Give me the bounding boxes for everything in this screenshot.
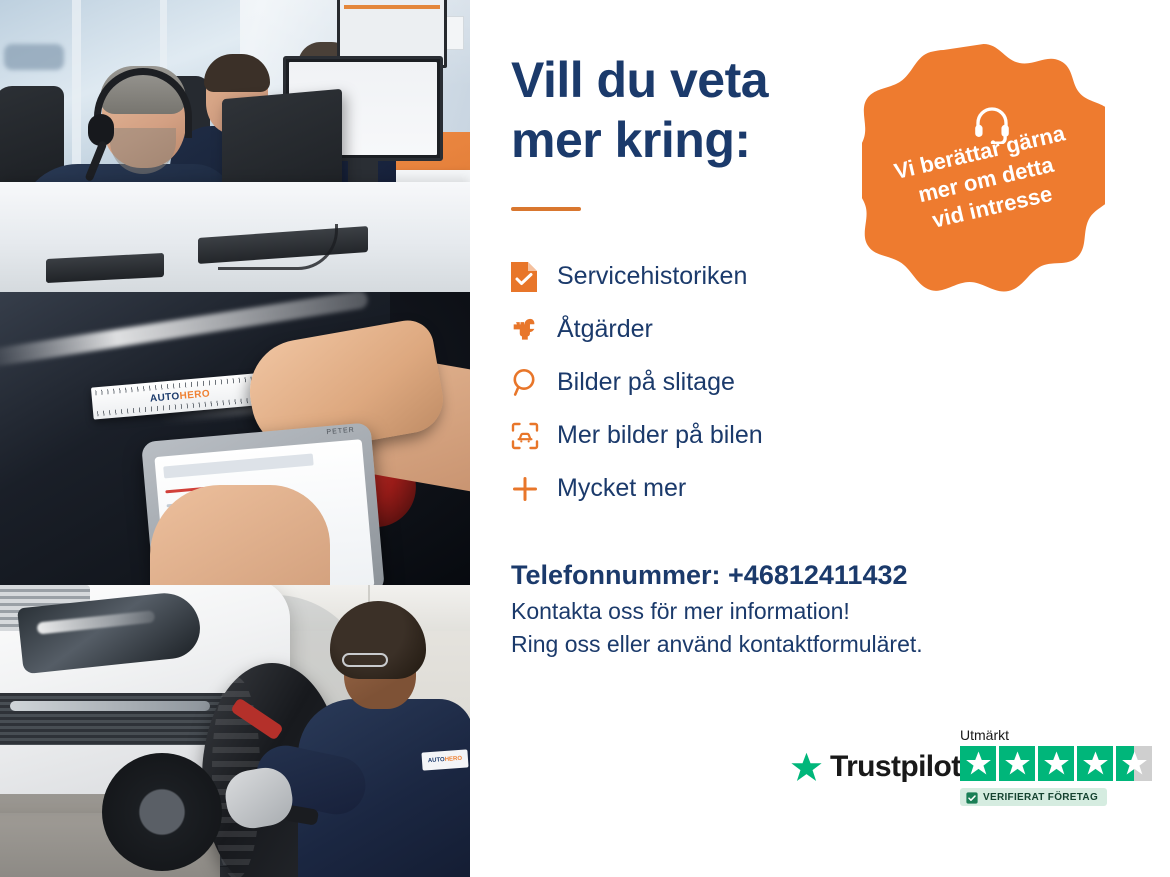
star-filled (999, 746, 1035, 781)
car-scan-frame-icon (511, 422, 557, 450)
list-item: Mer bilder på bilen (511, 409, 931, 462)
list-item: Bilder på slitage (511, 356, 931, 409)
list-item-label: Mycket mer (557, 476, 686, 501)
star-half (1116, 746, 1152, 781)
phone-line: Telefonnummer: +46812411432 (511, 556, 1031, 595)
verified-check-icon (966, 791, 978, 803)
star-filled (1077, 746, 1113, 781)
photo-inspection: AUTOHERO PETER (0, 292, 470, 585)
star-filled (1038, 746, 1074, 781)
cable (218, 224, 338, 270)
wrench-screwdriver-icon (511, 316, 557, 344)
list-item-label: Bilder på slitage (557, 370, 735, 395)
content-panel: Vill du veta mer kring: Vi berättar gärn… (470, 0, 1170, 877)
plus-icon (511, 475, 557, 503)
trustpilot-widget[interactable]: Trustpilot Utmärkt (790, 728, 1150, 820)
trustpilot-logo: Trustpilot (790, 750, 961, 784)
list-item: Servicehistoriken (511, 250, 931, 303)
rating-label: Utmärkt (960, 728, 1152, 742)
promo-page: AUTOHERO PETER (0, 0, 1170, 877)
mounted-wheel (102, 753, 222, 871)
photo-call-center (0, 0, 470, 292)
safety-glasses (342, 653, 388, 667)
contact-block: Telefonnummer: +46812411432 Kontakta oss… (511, 556, 1031, 660)
trustpilot-star-icon (790, 751, 823, 784)
contact-text-line-1: Kontakta oss för mer information! (511, 595, 1031, 628)
inspector-hand-holding-tablet (150, 485, 330, 585)
trustpilot-wordmark: Trustpilot (830, 750, 961, 784)
ruler-brand-hero: HERO (179, 388, 210, 402)
page-title-line-1: Vill du veta (511, 52, 768, 108)
verified-business-label: VERIFIERAT FÖRETAG (983, 792, 1098, 803)
list-item: Mycket mer (511, 462, 931, 515)
chrome-trim (10, 701, 210, 711)
uniform-logo: AUTOHERO (421, 749, 468, 770)
uniform-logo-hero: HERO (445, 756, 463, 763)
phone-number[interactable]: +46812411432 (728, 560, 907, 590)
mechanic: AUTOHERO (270, 601, 470, 877)
car-outside-window (4, 44, 64, 70)
checklist-document-icon (511, 262, 557, 292)
uniform-logo-auto: AUTO (428, 757, 445, 764)
list-item-label: Åtgärder (557, 317, 653, 342)
list-item-label: Servicehistoriken (557, 264, 747, 289)
title-divider (511, 207, 581, 211)
list-item: Åtgärder (511, 303, 931, 356)
photo-workshop: AUTOHERO (0, 585, 470, 877)
magnifier-icon (511, 368, 557, 397)
verified-business-badge: VERIFIERAT FÖRETAG (960, 788, 1107, 806)
star-rating (960, 746, 1152, 781)
feature-list: Servicehistoriken Åtgärder (511, 250, 931, 515)
phone-label: Telefonnummer: (511, 560, 721, 590)
star-filled (960, 746, 996, 781)
trustpilot-rating: Utmärkt (960, 728, 1152, 809)
tablet-label: PETER (326, 427, 355, 436)
contact-text-line-2: Ring oss eller använd kontaktformuläret. (511, 628, 1031, 661)
list-item-label: Mer bilder på bilen (557, 423, 763, 448)
ruler-brand-auto: AUTO (150, 391, 181, 405)
page-title-line-2: mer kring: (511, 112, 751, 168)
photo-strip: AUTOHERO PETER (0, 0, 470, 877)
